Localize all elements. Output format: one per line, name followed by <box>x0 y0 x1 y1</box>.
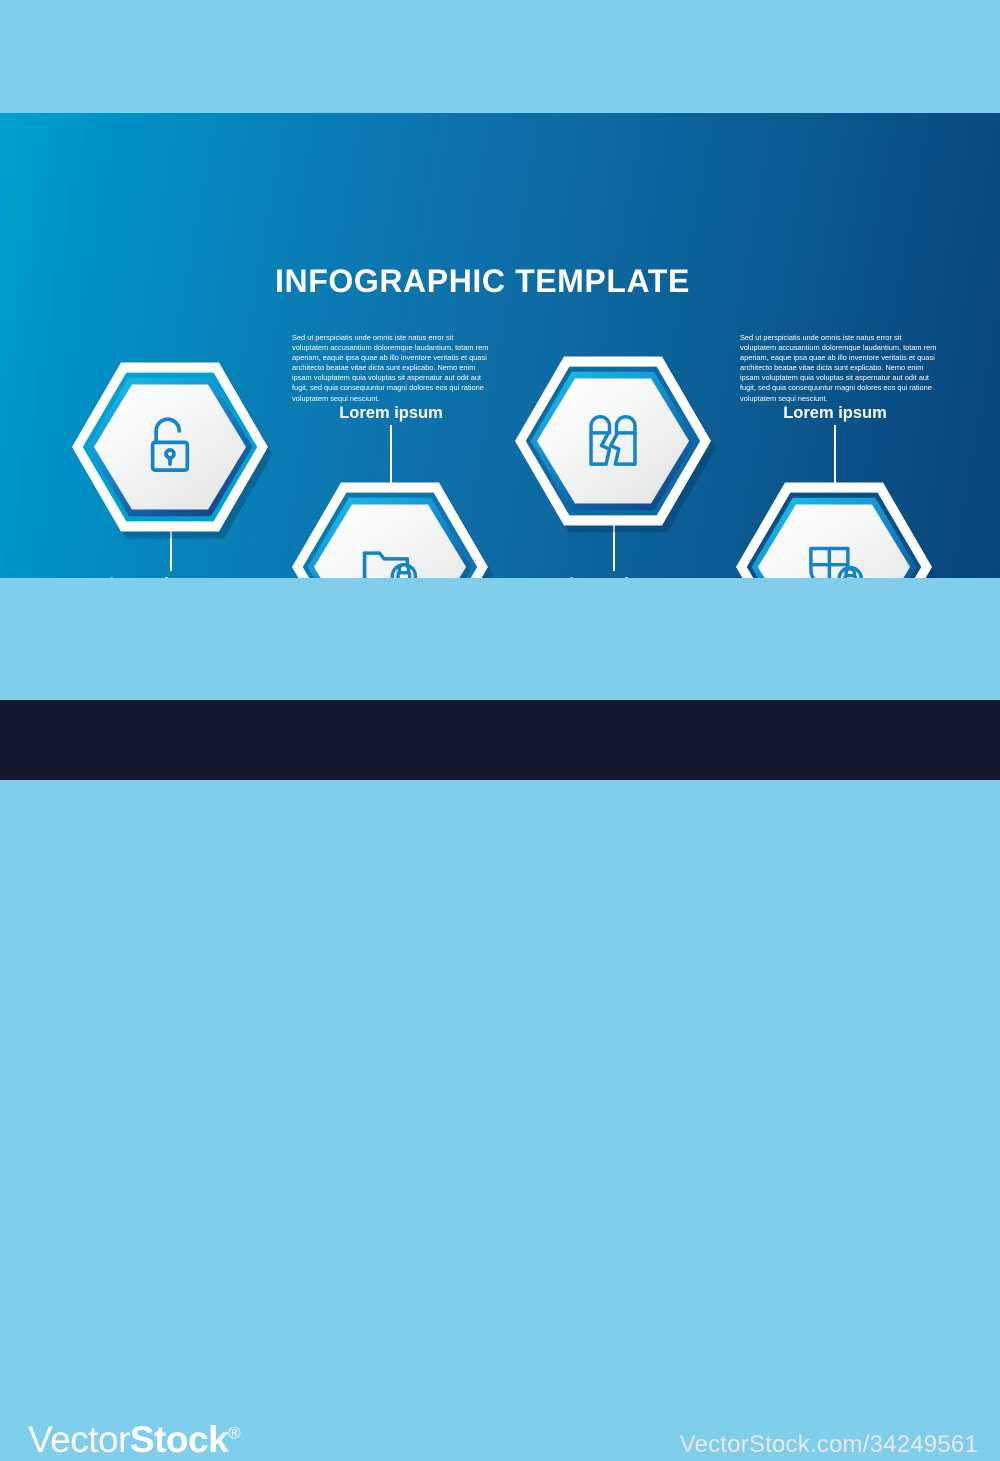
connector-line-4 <box>834 425 836 487</box>
broken-padlock-icon <box>576 404 650 478</box>
shield-lock-icon <box>797 530 871 578</box>
step-label-4: Lorem ipsum <box>736 404 934 423</box>
step-paragraph-4: Sed ut perspiciatis unde omnis iste natu… <box>740 333 938 404</box>
network-folder-lock-icon <box>353 530 427 578</box>
watermark-url: VectorStock.com/34249561 <box>680 1431 978 1459</box>
hexagon-badge-1[interactable] <box>72 359 268 535</box>
connector-line-1 <box>390 425 392 487</box>
open-padlock-icon <box>133 410 207 484</box>
vectorstock-logo: VectorStock® <box>28 1419 240 1461</box>
top-background-band <box>0 0 1000 113</box>
watermark-footer: VectorStock® VectorStock.com/34249561 <box>0 700 1000 780</box>
page-title: INFOGRAPHIC TEMPLATE <box>275 263 690 300</box>
hexagon-badge-3[interactable] <box>515 353 711 529</box>
infographic-stage: INFOGRAPHIC TEMPLATE Sed ut perspiciatis… <box>0 113 1000 578</box>
brand-light: Vector <box>28 1419 130 1460</box>
brand-bold: Stock <box>130 1419 228 1460</box>
hexagon-badge-4[interactable] <box>736 479 932 578</box>
step-paragraph-1: Sed ut perspiciatis unde omnis iste natu… <box>292 333 490 404</box>
hexagon-badge-2[interactable] <box>292 479 488 578</box>
registered-mark: ® <box>228 1424 240 1443</box>
bottom-background-band <box>0 578 1000 700</box>
step-label-1: Lorem ipsum <box>292 404 490 423</box>
